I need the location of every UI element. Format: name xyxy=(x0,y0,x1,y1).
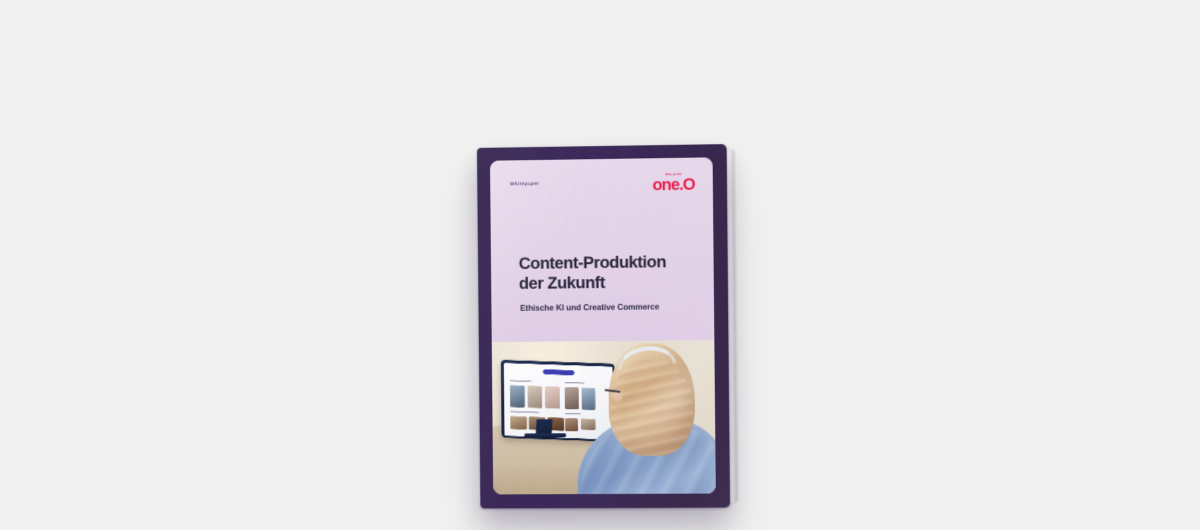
book-3d: Whitepaper elkg group one.O Content-Prod… xyxy=(477,144,730,508)
photo-person xyxy=(590,340,716,494)
person-glasses xyxy=(605,389,621,393)
logo-eyebrow-text: elkg group xyxy=(652,173,694,177)
cover-panel: Whitepaper elkg group one.O Content-Prod… xyxy=(490,157,716,494)
screenshot-stage: Whitepaper elkg group one.O Content-Prod… xyxy=(0,0,1200,530)
book-mockup: Whitepaper elkg group one.O Content-Prod… xyxy=(478,146,728,508)
cover-title: Content-Produktion der Zukunft xyxy=(519,252,698,294)
person-hair xyxy=(608,343,695,456)
cover-kicker-label: Whitepaper xyxy=(510,181,539,186)
cover-upper-block: Whitepaper elkg group one.O Content-Prod… xyxy=(490,157,714,342)
cover-subtitle: Ethische KI und Creative Commerce xyxy=(520,302,700,313)
person-headband xyxy=(616,343,676,369)
person-ear xyxy=(614,390,623,403)
cover-title-line-1: Content-Produktion xyxy=(519,252,698,274)
book-cover: Whitepaper elkg group one.O Content-Prod… xyxy=(477,144,730,508)
monitor-base xyxy=(524,433,566,437)
logo-wordmark: one.O xyxy=(652,177,695,194)
person-hair-strands xyxy=(610,359,693,456)
monitor-stand xyxy=(536,419,553,434)
brand-logo: elkg group one.O xyxy=(652,173,695,194)
cover-title-line-2: der Zukunft xyxy=(519,272,698,294)
cover-photo xyxy=(492,340,716,494)
